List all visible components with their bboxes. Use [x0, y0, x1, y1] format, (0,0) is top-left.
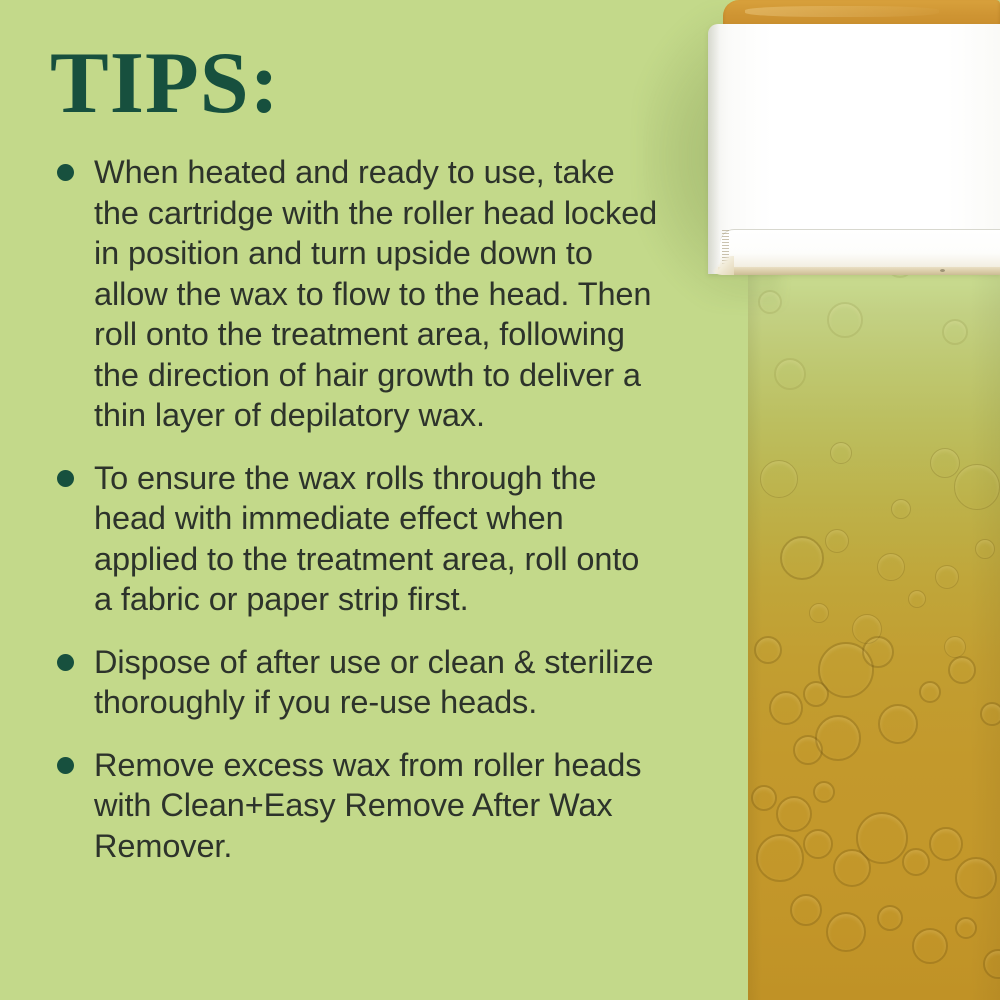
- wax-bubble: [944, 636, 966, 658]
- list-item: When heated and ready to use, take the c…: [50, 152, 665, 436]
- wax-bubble: [929, 827, 963, 861]
- wax-bubble: [878, 704, 918, 744]
- wax-bubble: [769, 691, 803, 725]
- wax-bubble: [955, 917, 977, 939]
- wax-bubble: [912, 928, 948, 964]
- roller-wax-cartridge: [708, 24, 1000, 290]
- wax-bubble: [825, 529, 849, 553]
- wax-bubble: [774, 358, 806, 390]
- wax-bubble: [754, 636, 782, 664]
- wax-bubble: [908, 590, 926, 608]
- wax-bubble: [980, 702, 1000, 726]
- wax-bubble: [954, 464, 1000, 510]
- wax-bubble: [780, 536, 824, 580]
- list-item: Remove excess wax from roller heads with…: [50, 745, 665, 867]
- wax-bubble: [919, 681, 941, 703]
- list-item-text: When heated and ready to use, take the c…: [94, 152, 665, 436]
- list-item-text: Dispose of after use or clean & steriliz…: [94, 642, 665, 723]
- wax-bubble: [975, 539, 995, 559]
- wax-bubble: [877, 905, 903, 931]
- wax-bubble: [751, 785, 777, 811]
- wax-bubble: [948, 656, 976, 684]
- bullet-dot-icon: [57, 470, 74, 487]
- page-title: TIPS:: [50, 40, 280, 128]
- list-item-text: Remove excess wax from roller heads with…: [94, 745, 665, 867]
- wax-bubble: [809, 603, 829, 623]
- list-item: To ensure the wax rolls through the head…: [50, 458, 665, 620]
- bullet-dot-icon: [57, 757, 74, 774]
- wax-bubble: [983, 949, 1000, 979]
- wax-bubble: [856, 812, 908, 864]
- wax-bubble: [826, 912, 866, 952]
- wax-bubble: [776, 796, 812, 832]
- wax-bubble: [942, 319, 968, 345]
- list-item: Dispose of after use or clean & steriliz…: [50, 642, 665, 723]
- wax-bubble: [930, 448, 960, 478]
- tips-panel: TIPS: When heated and ready to use, take…: [0, 0, 1000, 1000]
- wax-bubble: [891, 499, 911, 519]
- bullet-dot-icon: [57, 164, 74, 181]
- wax-bubble: [877, 553, 905, 581]
- wax-bubble: [955, 857, 997, 899]
- wax-bubble: [830, 442, 852, 464]
- wax-bubble: [862, 636, 894, 668]
- tips-list: When heated and ready to use, take the c…: [50, 152, 665, 866]
- wax-bubble: [935, 565, 959, 589]
- wax-bubble: [813, 781, 835, 803]
- wax-bubble: [815, 715, 861, 761]
- list-item-text: To ensure the wax rolls through the head…: [94, 458, 665, 620]
- wax-bubble: [803, 829, 833, 859]
- wax-bubble: [756, 834, 804, 882]
- cartridge-base: [718, 267, 1000, 275]
- wax-bubble: [760, 460, 798, 498]
- bullet-dot-icon: [57, 654, 74, 671]
- cartridge-vent-dot: [940, 269, 945, 272]
- wax-bubble: [790, 894, 822, 926]
- text-column: TIPS: When heated and ready to use, take…: [0, 0, 700, 1000]
- wax-bubble: [902, 848, 930, 876]
- wax-bubble: [827, 302, 863, 338]
